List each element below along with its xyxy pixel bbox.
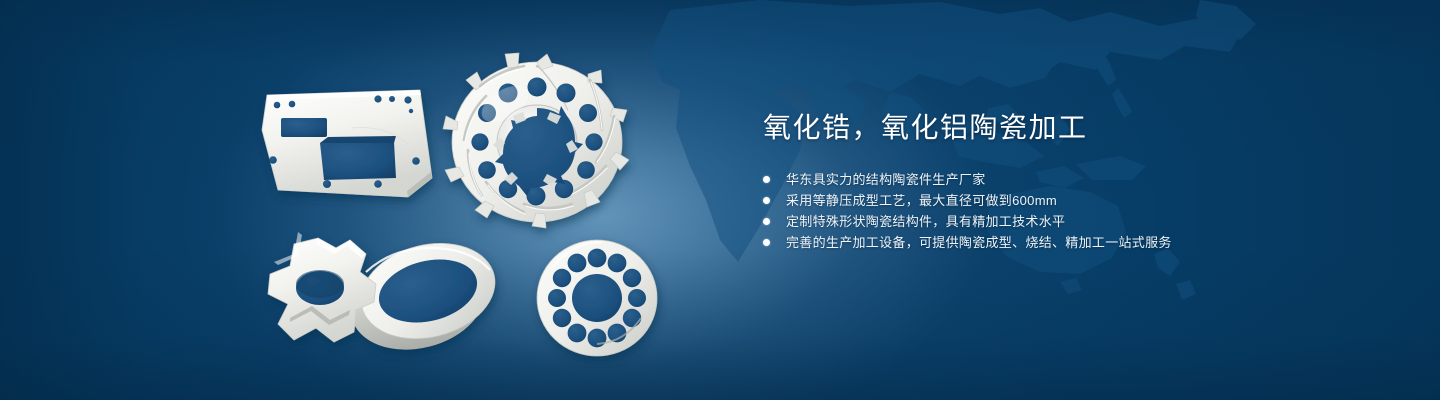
bullet-dot-icon [763,239,770,246]
list-item: 华东具实力的结构陶瓷件生产厂家 [763,169,1323,190]
bullet-dot-icon [763,176,770,183]
list-item-label: 华东具实力的结构陶瓷件生产厂家 [786,172,986,187]
product-photo-group [0,0,720,400]
ceramic-impeller-disc [443,53,629,228]
banner-copy: 氧化锆，氧化铝陶瓷加工 华东具实力的结构陶瓷件生产厂家 采用等静压成型工艺，最大… [763,108,1323,253]
list-item: 采用等静压成型工艺，最大直径可做到600mm [763,190,1323,211]
list-item-label: 完善的生产加工设备，可提供陶瓷成型、烧结、精加工一站式服务 [786,235,1172,250]
ceramic-cross-plate-and-rings [268,230,505,363]
ceramic-plate-with-cutouts [262,90,432,197]
hero-banner: 氧化锆，氧化铝陶瓷加工 华东具实力的结构陶瓷件生产厂家 采用等静压成型工艺，最大… [0,0,1440,400]
page-title: 氧化锆，氧化铝陶瓷加工 [763,108,1323,148]
feature-list: 华东具实力的结构陶瓷件生产厂家 采用等静压成型工艺，最大直径可做到600mm 定… [763,169,1323,253]
bullet-dot-icon [763,197,770,204]
list-item: 完善的生产加工设备，可提供陶瓷成型、烧结、精加工一站式服务 [763,232,1323,253]
bullet-dot-icon [763,218,770,225]
ceramic-retainer-ring-12-holes [537,240,657,356]
list-item: 定制特殊形状陶瓷结构件，具有精加工技术水平 [763,211,1323,232]
list-item-label: 定制特殊形状陶瓷结构件，具有精加工技术水平 [786,214,1065,229]
list-item-label: 采用等静压成型工艺，最大直径可做到600mm [786,193,1057,208]
